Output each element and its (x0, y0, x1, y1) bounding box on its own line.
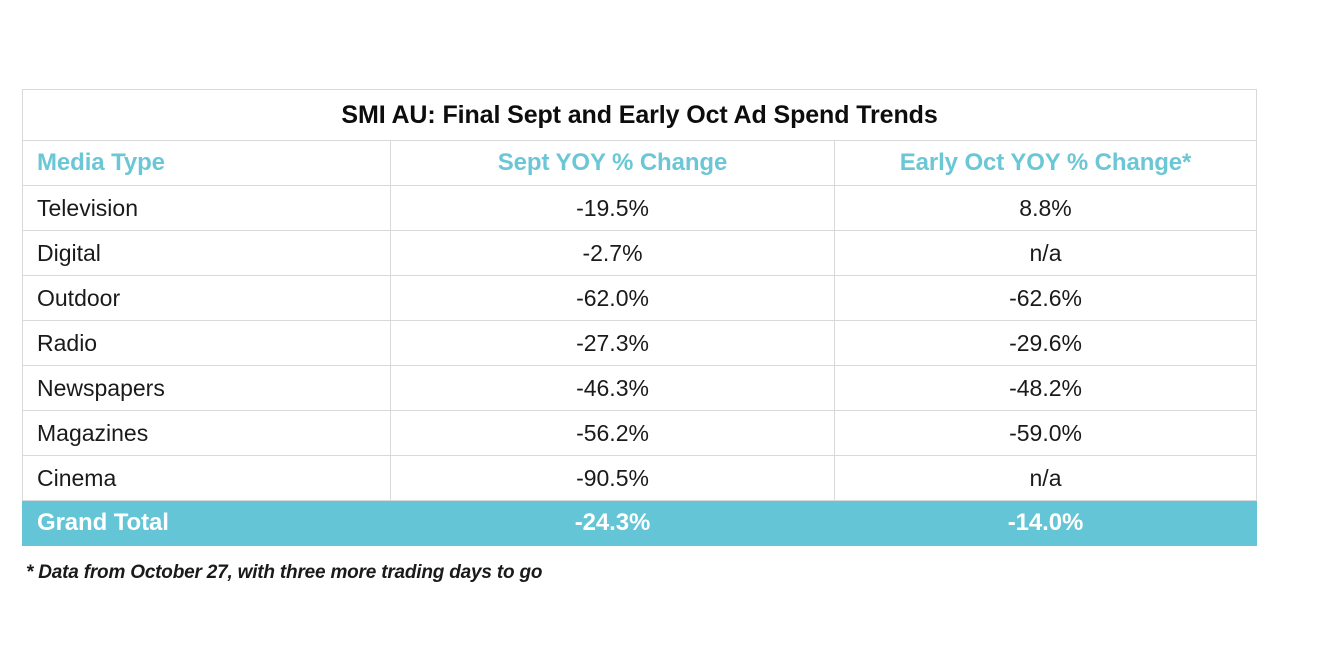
cell-media-type: Cinema (23, 456, 391, 501)
cell-media-type: Digital (23, 231, 391, 276)
table-row: Cinema -90.5% n/a (23, 456, 1257, 501)
cell-sept-yoy: -56.2% (391, 411, 835, 456)
page-root: SMI AU: Final Sept and Early Oct Ad Spen… (0, 0, 1322, 648)
cell-sept-yoy: -46.3% (391, 366, 835, 411)
cell-early-oct-yoy: -59.0% (835, 411, 1257, 456)
cell-early-oct-yoy: -29.6% (835, 321, 1257, 366)
table-row: Digital -2.7% n/a (23, 231, 1257, 276)
ad-spend-table: SMI AU: Final Sept and Early Oct Ad Spen… (22, 89, 1257, 546)
table-row: Outdoor -62.0% -62.6% (23, 276, 1257, 321)
cell-early-oct-yoy: -48.2% (835, 366, 1257, 411)
cell-early-oct-yoy: 8.8% (835, 186, 1257, 231)
cell-early-oct-yoy: -62.6% (835, 276, 1257, 321)
table-row: Magazines -56.2% -59.0% (23, 411, 1257, 456)
cell-total-label: Grand Total (23, 501, 391, 546)
table-footnote: * Data from October 27, with three more … (26, 562, 542, 584)
cell-total-early-oct-yoy: -14.0% (835, 501, 1257, 546)
table-row: Television -19.5% 8.8% (23, 186, 1257, 231)
cell-early-oct-yoy: n/a (835, 456, 1257, 501)
cell-sept-yoy: -19.5% (391, 186, 835, 231)
column-header-early-oct-yoy[interactable]: Early Oct YOY % Change* (835, 141, 1257, 186)
table-row: Newspapers -46.3% -48.2% (23, 366, 1257, 411)
column-header-media-type[interactable]: Media Type (23, 141, 391, 186)
column-header-sept-yoy[interactable]: Sept YOY % Change (391, 141, 835, 186)
cell-sept-yoy: -90.5% (391, 456, 835, 501)
cell-media-type: Outdoor (23, 276, 391, 321)
table-title: SMI AU: Final Sept and Early Oct Ad Spen… (23, 90, 1257, 141)
cell-sept-yoy: -2.7% (391, 231, 835, 276)
cell-sept-yoy: -27.3% (391, 321, 835, 366)
cell-media-type: Newspapers (23, 366, 391, 411)
table-header-row: Media Type Sept YOY % Change Early Oct Y… (23, 141, 1257, 186)
cell-sept-yoy: -62.0% (391, 276, 835, 321)
grand-total-row: Grand Total -24.3% -14.0% (23, 501, 1257, 546)
cell-media-type: Magazines (23, 411, 391, 456)
table-row: Radio -27.3% -29.6% (23, 321, 1257, 366)
cell-total-sept-yoy: -24.3% (391, 501, 835, 546)
table-title-row: SMI AU: Final Sept and Early Oct Ad Spen… (23, 90, 1257, 141)
ad-spend-table-container: SMI AU: Final Sept and Early Oct Ad Spen… (22, 89, 1256, 546)
cell-media-type: Radio (23, 321, 391, 366)
cell-media-type: Television (23, 186, 391, 231)
cell-early-oct-yoy: n/a (835, 231, 1257, 276)
